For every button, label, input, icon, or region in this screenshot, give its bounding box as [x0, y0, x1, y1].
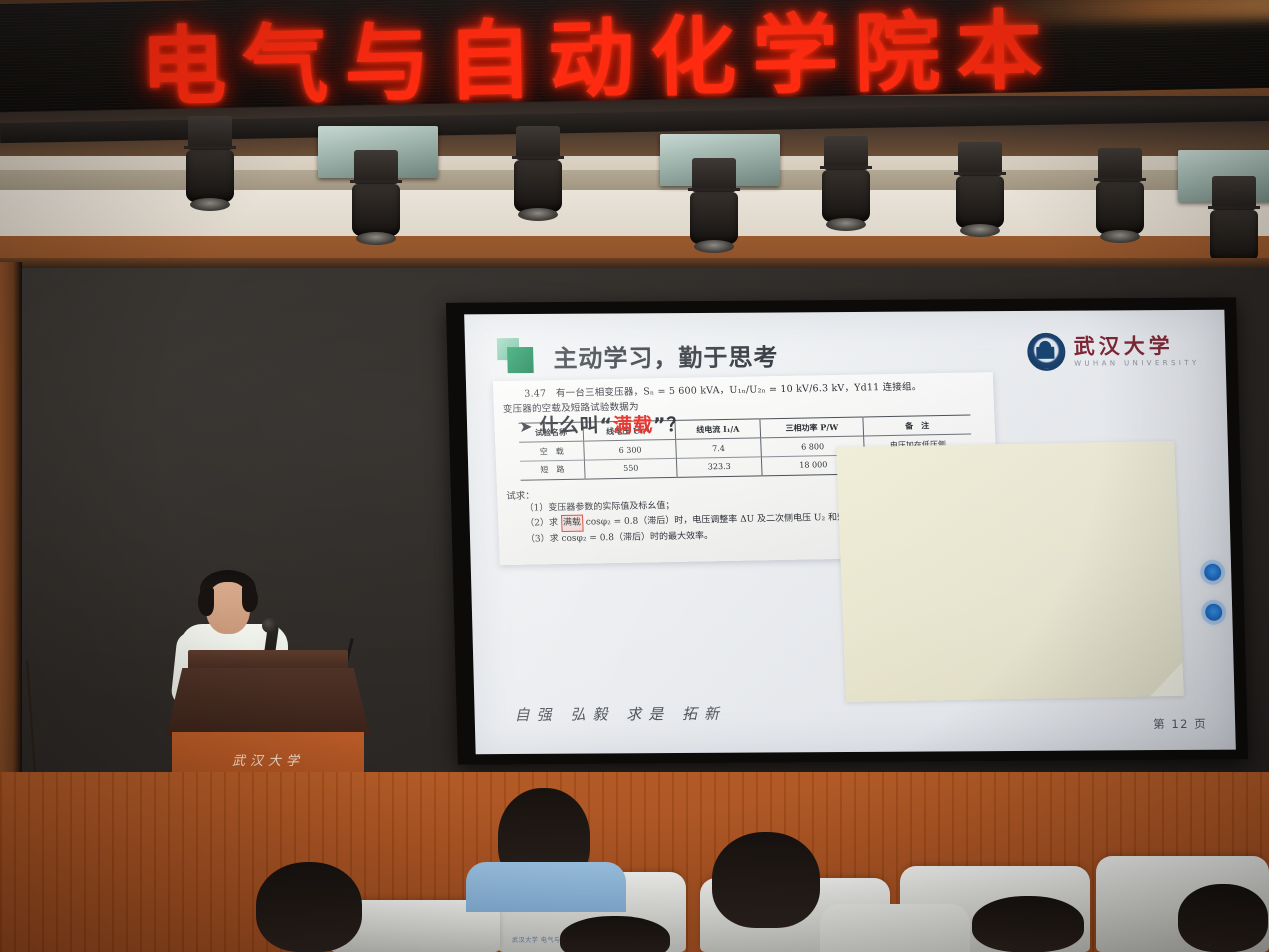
beige-note-panel	[836, 441, 1184, 702]
cell-1-1: 550	[585, 458, 677, 478]
note-highlight: 满载	[613, 414, 654, 436]
podium-university-name: 武汉大学	[172, 750, 364, 769]
audience-head-4	[560, 916, 670, 952]
bullet-arrow-icon: ➤	[519, 417, 534, 436]
indicator-dot-1[interactable]	[1204, 564, 1221, 581]
audience-head-6	[1178, 884, 1268, 952]
note-question: ➤什么叫“满载”？	[519, 410, 687, 438]
cell-0-2: 7.4	[675, 438, 761, 458]
page-number: 第 12 页	[1153, 716, 1207, 732]
presentation-slide: 主动学习，勤于思考 武汉大学 WUHAN UNIVERSITY 3.47 有一台…	[464, 310, 1236, 754]
footer-calligraphy: 自强 弘毅 求是 拓新	[514, 703, 726, 725]
spotlight-2	[348, 150, 404, 245]
podium-body	[166, 668, 370, 736]
stage-left-trim	[0, 262, 22, 792]
cell-0-0: 空 载	[519, 441, 585, 461]
audience-shoulder-1	[466, 862, 626, 912]
spotlight-6	[952, 142, 1008, 237]
presenter-hair-left	[198, 588, 214, 616]
spotlight-3	[510, 126, 566, 221]
note-text-before: 什么叫	[539, 415, 600, 437]
microphone-head-icon	[262, 618, 277, 633]
col-header-4: 备 注	[863, 415, 971, 436]
slide-title: 主动学习，勤于思考	[553, 337, 779, 373]
problem-number: 3.47	[524, 388, 546, 399]
cell-0-1: 6 300	[584, 440, 676, 460]
cell-1-2: 323.3	[676, 457, 762, 477]
highlighted-term: 满载	[561, 515, 584, 532]
university-seal-icon	[1027, 333, 1066, 371]
lecture-hall-photo: 电气与自动化学院本 主动学习，勤于	[0, 0, 1269, 952]
note-text-after: ？	[666, 414, 687, 436]
brand-name-en: WUHAN UNIVERSITY	[1074, 359, 1200, 368]
audience-head-5	[972, 896, 1084, 952]
col-header-3: 三相功率 P/W	[760, 417, 863, 438]
quote-close: ”	[653, 414, 667, 436]
green-squares-icon	[497, 336, 540, 376]
spotlight-4	[686, 158, 742, 253]
projector-screen: 主动学习，勤于思考 武汉大学 WUHAN UNIVERSITY 3.47 有一台…	[464, 310, 1236, 754]
note-fold-corner	[1149, 662, 1184, 697]
indicator-dot-2[interactable]	[1205, 604, 1222, 621]
col-header-2: 线电流 I₁/A	[675, 419, 761, 439]
spotlight-1	[182, 116, 238, 211]
brand-name-cn: 武汉大学	[1073, 335, 1199, 357]
quote-open: “	[599, 414, 613, 436]
audience-head-3	[256, 862, 362, 952]
spotlight-5	[818, 136, 874, 231]
wuhan-university-logo: 武汉大学 WUHAN UNIVERSITY	[1027, 332, 1200, 371]
slide-title-row: 主动学习，勤于思考	[497, 334, 779, 376]
spotlight-7	[1092, 148, 1148, 243]
audience-shoulder-2	[820, 904, 970, 952]
presenter-hair-right	[242, 586, 258, 612]
spotlight-8	[1206, 176, 1262, 271]
cell-1-0: 短 路	[520, 460, 586, 480]
audience-head-2	[712, 832, 820, 928]
